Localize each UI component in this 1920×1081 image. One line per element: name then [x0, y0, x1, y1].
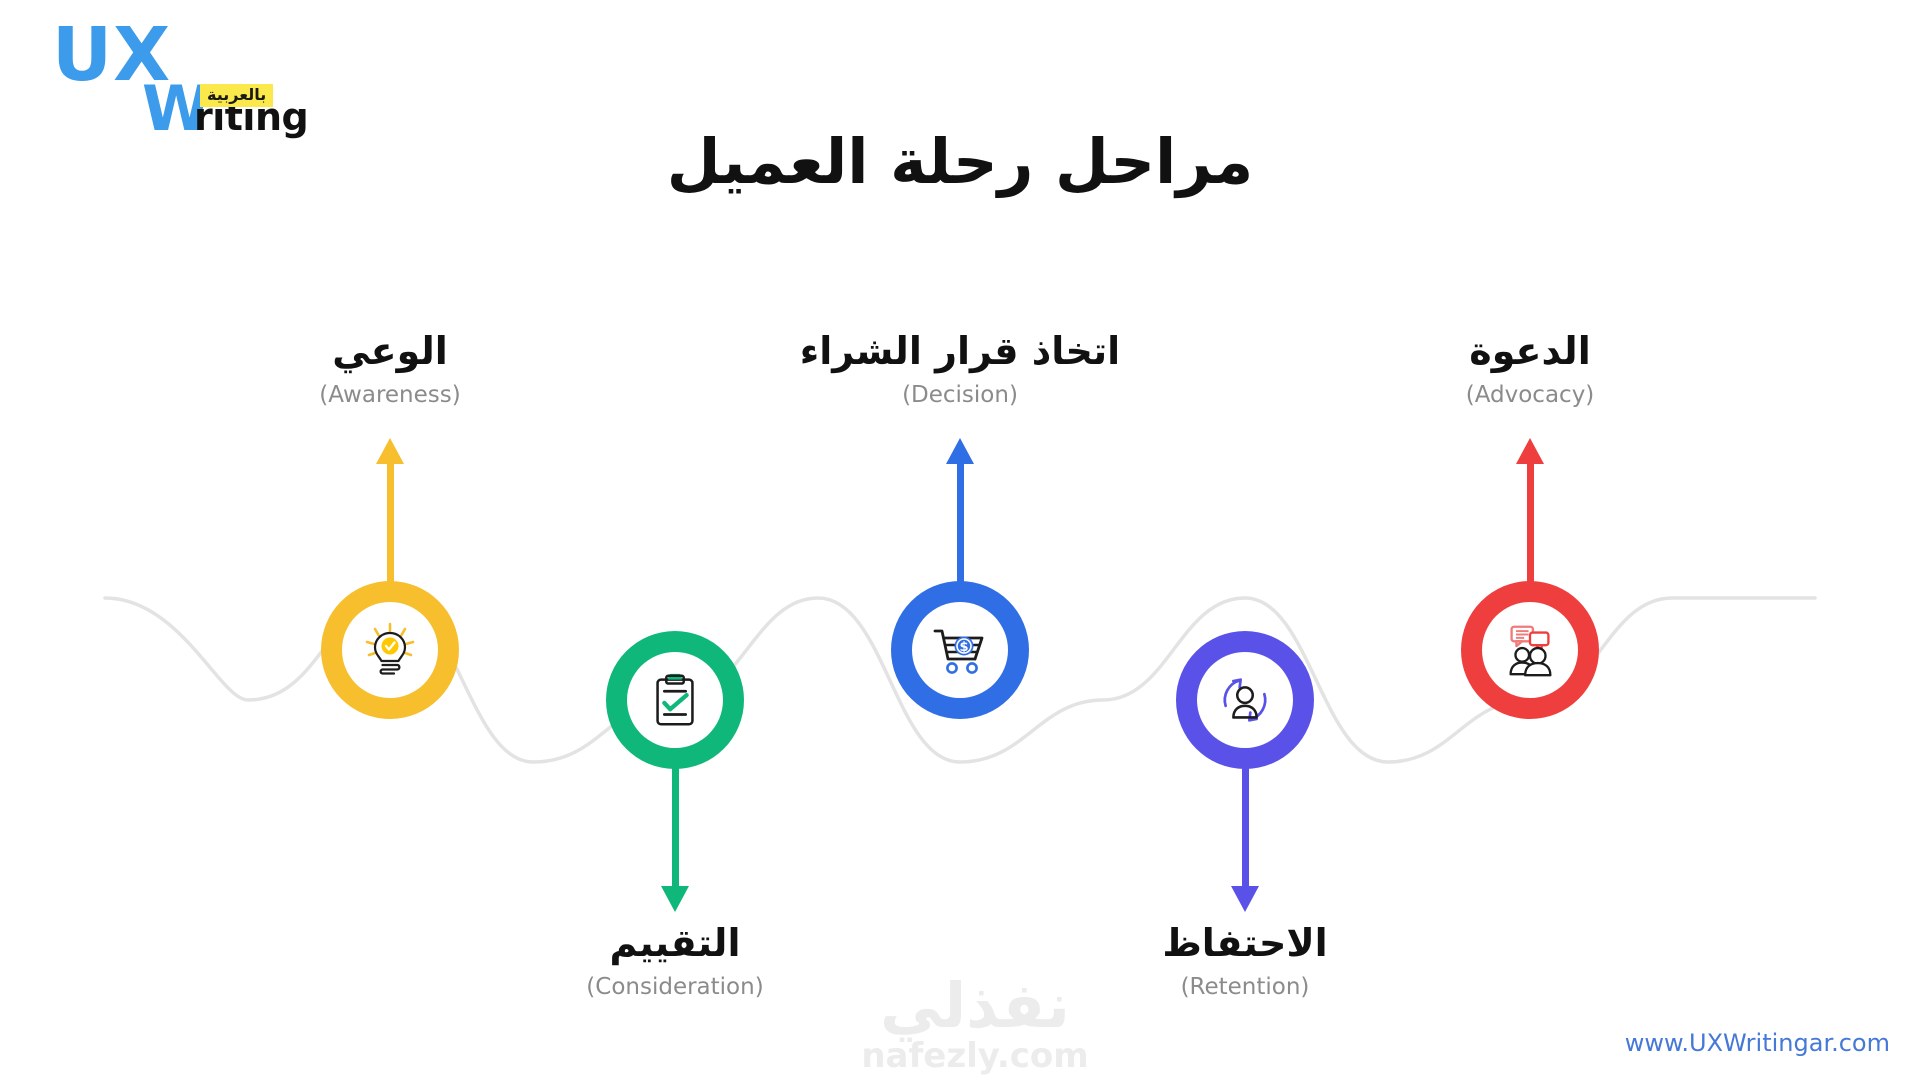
- stage-label-decision: اتخاذ قرار الشراء (Decision): [700, 330, 1220, 408]
- stage-circle-advocacy[interactable]: [1461, 581, 1599, 719]
- connector-line-decision: [957, 460, 964, 590]
- stage-icon-wrapper-advocacy: [1482, 602, 1578, 698]
- stage-label-ar-decision: اتخاذ قرار الشراء: [700, 330, 1220, 374]
- clipboard-check-icon: [644, 669, 706, 731]
- stage-icon-wrapper-decision: $: [912, 602, 1008, 698]
- shopping-cart-dollar-icon: $: [928, 618, 992, 682]
- watermark-domain-text: nafezly.com: [830, 1039, 1120, 1073]
- stage-label-retention: الاحتفاظ (Retention): [985, 922, 1505, 1000]
- stage-label-en-awareness: (Awareness): [130, 383, 650, 408]
- connector-line-awareness: [387, 460, 394, 590]
- infographic-canvas: UX W riting بالعربية مراحل رحلة العميل: [0, 0, 1920, 1081]
- people-chat-icon: [1499, 619, 1561, 681]
- page-title: مراحل رحلة العميل: [0, 125, 1920, 198]
- svg-text:$: $: [959, 640, 968, 655]
- stage-circle-retention[interactable]: [1176, 631, 1314, 769]
- stage-label-ar-awareness: الوعي: [130, 330, 650, 374]
- stage-label-en-retention: (Retention): [985, 975, 1505, 1000]
- stage-label-en-consideration: (Consideration): [415, 975, 935, 1000]
- stage-icon-wrapper-retention: [1197, 652, 1293, 748]
- stage-circle-consideration[interactable]: [606, 631, 744, 769]
- arrow-head-up-decision: [946, 438, 974, 464]
- arrow-head-down-consideration: [661, 886, 689, 912]
- stage-circle-decision[interactable]: $: [891, 581, 1029, 719]
- stage-label-advocacy: الدعوة (Advocacy): [1270, 330, 1790, 408]
- stage-label-en-decision: (Decision): [700, 383, 1220, 408]
- stage-circle-awareness[interactable]: [321, 581, 459, 719]
- stage-icon-wrapper-awareness: [342, 602, 438, 698]
- footer-website-url[interactable]: www.UXWritingar.com: [1625, 1029, 1890, 1057]
- stage-icon-wrapper-consideration: [627, 652, 723, 748]
- stage-label-ar-retention: الاحتفاظ: [985, 922, 1505, 966]
- logo-arabic-badge: بالعربية: [200, 84, 273, 107]
- connector-line-consideration: [672, 760, 679, 890]
- arrow-head-up-awareness: [376, 438, 404, 464]
- arrow-head-up-advocacy: [1516, 438, 1544, 464]
- lightbulb-check-icon: [358, 618, 422, 682]
- connector-line-retention: [1242, 760, 1249, 890]
- stage-label-consideration: التقييم (Consideration): [415, 922, 935, 1000]
- user-retention-cycle-icon: [1214, 669, 1276, 731]
- stage-label-awareness: الوعي (Awareness): [130, 330, 650, 408]
- stage-label-en-advocacy: (Advocacy): [1270, 383, 1790, 408]
- connector-line-advocacy: [1527, 460, 1534, 590]
- arrow-head-down-retention: [1231, 886, 1259, 912]
- stage-label-ar-advocacy: الدعوة: [1270, 330, 1790, 374]
- stage-label-ar-consideration: التقييم: [415, 922, 935, 966]
